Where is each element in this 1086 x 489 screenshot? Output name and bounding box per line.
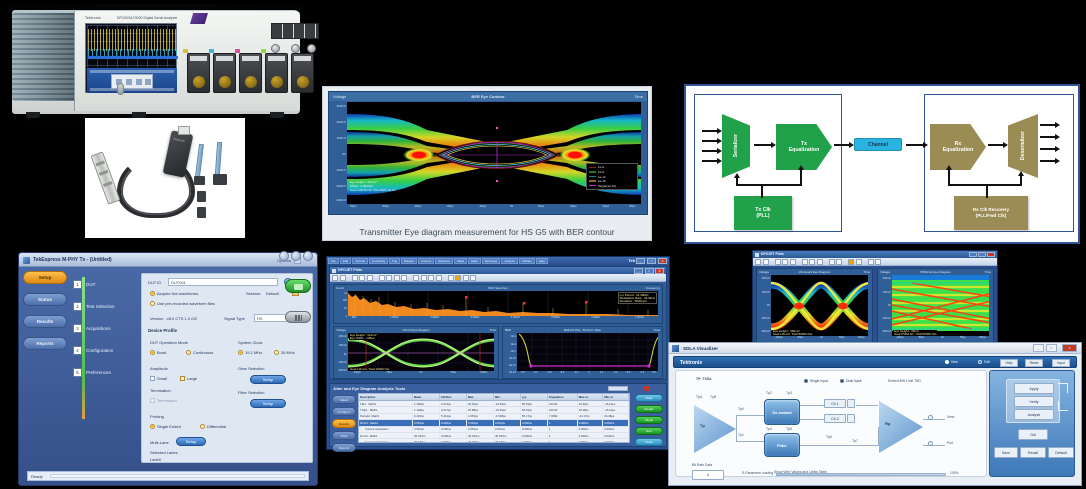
edit-radio[interactable]: Edit <box>978 360 990 364</box>
dual-input-radio[interactable]: Dual Input <box>840 379 861 383</box>
rx-clock-to-rxeq <box>948 170 950 186</box>
probing-differential-radio[interactable]: Differential <box>200 424 226 429</box>
eye-marker-lower <box>496 180 498 182</box>
toolbar-layout-4-icon[interactable] <box>436 275 442 281</box>
sdla-close-button[interactable]: ✕ <box>1062 344 1077 352</box>
oscilloscope-photo: Tektronix DPO/DSA70000 Digital Serial An… <box>8 4 305 126</box>
dual-input-label: Dual Input <box>846 379 861 383</box>
results-reports-button[interactable]: Reports <box>332 443 356 452</box>
hs-eye-y-tick: 300mV <box>762 277 770 280</box>
bathtub-plot: BER Bathtub Plot - Bit Error Rate Time 1… <box>502 326 663 379</box>
results-configure-button[interactable]: Configure <box>332 407 356 416</box>
filter-selection-label: Filter Selection <box>238 390 264 395</box>
sdla-minimize-button[interactable]: _ <box>1033 344 1044 352</box>
spectrum-x-tick: 4.0MHz <box>511 316 520 319</box>
hs-eye-y-axis: 300mV 150mV 0V -150mV -300mV <box>757 275 771 336</box>
input-button[interactable]: Input <box>1052 359 1070 367</box>
eye-canvas-dpo: Eye Height : 412mV Eye Width : 148ps Gea… <box>348 333 494 371</box>
channel-1-dropdown[interactable] <box>847 399 855 408</box>
step-test-selection[interactable]: 2 Test Selection <box>73 295 139 317</box>
sidebar-item-setup[interactable]: Setup <box>23 271 67 284</box>
mode-button-group: Apply Verify Analyze <box>1006 379 1060 423</box>
verify-button[interactable]: Verify <box>1014 396 1054 407</box>
pwm-eye-title: PWM-G1 Eye Diagram <box>920 270 951 274</box>
menu-trig[interactable]: Trig <box>389 258 400 264</box>
sdla-app-icon <box>672 345 679 352</box>
system-clock-26-label: 26 MHz <box>281 350 295 355</box>
results-table[interactable]: Description Mean Std Dev Max Min p-p Pop… <box>358 393 630 443</box>
toolbar-layout-1-icon[interactable] <box>413 275 419 281</box>
sidebar-item-results[interactable]: Results <box>23 315 67 328</box>
toolbar-annotate-icon[interactable] <box>394 275 400 281</box>
pwm-eye-y-axis: 300mV 150mV 0V -150mV -300mV <box>878 275 892 336</box>
channel-2-dropdown[interactable] <box>847 414 855 423</box>
sidebar-item-reports[interactable]: Reports <box>23 337 67 350</box>
system-clock-19-radio[interactable]: 19.2 MHz <box>238 350 262 355</box>
channel-block: Channel <box>854 138 902 151</box>
hs-eye-x-tick: 50ps <box>839 336 845 339</box>
dpojet-eye-plot: Voltage HS-G3 Eye Diagram Time 300mV 150… <box>333 326 499 379</box>
probe-label-b: TpB <box>710 395 716 399</box>
channel-select-2[interactable]: Ch 2 <box>824 414 846 423</box>
eyes-toolbar-zoom-in-icon[interactable] <box>775 259 781 265</box>
sdla-signal-path-canvas: TP: TXDA TpA TpB Tp Tp0 Tp1 De-embed Fil… <box>675 370 987 477</box>
eyes-toolbar-export-icon[interactable] <box>868 259 874 265</box>
toolbar-save-icon[interactable] <box>332 275 338 281</box>
recall-button[interactable]: Recall <box>1020 447 1046 458</box>
toolbar-zoom-in-icon[interactable] <box>352 275 358 281</box>
spectrum-title: SSC Spectrum <box>488 286 508 290</box>
footer-note[interactable]: Show Wire Values and Limits Table <box>774 470 827 474</box>
eye-y-axis-dpo: 300mV 150mV 0V -150mV -300mV <box>334 333 348 371</box>
probe-connector <box>178 126 190 135</box>
bathtub-x-label: Time <box>653 328 660 332</box>
version-label: Version : v8.0 CTS 1.0 r02 <box>150 316 197 321</box>
clear-button[interactable]: Clear <box>635 394 663 402</box>
single-button[interactable]: Single <box>635 416 663 424</box>
plots-minimize-button[interactable]: _ <box>634 268 643 274</box>
spectrum-x-tick: 7.0MHz <box>635 316 644 319</box>
menu-file[interactable]: File <box>328 258 339 264</box>
bathtub-x-tick: -0.5 <box>520 371 524 374</box>
multi-lane-label: Multi-Lane <box>150 440 169 445</box>
step-preferences[interactable]: 5 Preferences <box>73 361 139 383</box>
results-select-button[interactable]: Select <box>332 395 356 404</box>
tx-input-arrow-3 <box>702 150 718 152</box>
col-max: Max <box>467 394 494 400</box>
recalc-button[interactable]: Recalc <box>635 405 663 413</box>
dpojet-plots-window: DPOJET Plots _ □ ✕ Count SSC S <box>329 266 667 380</box>
step-label: Acquisitions <box>86 326 111 331</box>
toolbar-highlight-icon[interactable] <box>455 275 461 281</box>
scope-measurement-panel <box>87 68 177 93</box>
bathtub-y-tick: 1E-10 <box>509 357 516 360</box>
scope-bnc-connectors[interactable] <box>271 44 321 56</box>
window-title: TekExpress M-PHY Tx - (Untitled) <box>33 257 112 263</box>
eye-x-tick: 0s <box>510 204 513 208</box>
spectrum-y-label: Count <box>336 286 344 290</box>
minimize-button[interactable] <box>279 251 289 261</box>
menu-help[interactable]: Help <box>536 258 548 264</box>
channel-select-1[interactable]: Ch 1 <box>824 399 846 408</box>
tx-input-arrow-2 <box>702 140 718 142</box>
tx-input-arrow-4 <box>702 160 718 162</box>
sdla-titlebar: SDLA Visualizer _ □ ✕ <box>669 343 1081 354</box>
scope-minimize-button[interactable]: _ <box>636 258 645 264</box>
use-prerecorded-radio[interactable]: Use pre-recorded waveform files <box>150 301 215 306</box>
view-tap-node[interactable] <box>928 415 933 420</box>
legend-swatch <box>589 167 596 169</box>
rx-output-arrow-4 <box>1040 160 1056 162</box>
dual-eye-diagram-window: DPOJET Plots Voltage HS-Gear3 Eye Diagra… <box>752 250 998 348</box>
spectrum-x-tick: 6.0MHz <box>592 316 601 319</box>
eye-y-label: Voltage <box>336 328 346 332</box>
results-panel-title: Jitter and Eye Diagram Analysis Tools <box>333 386 405 391</box>
tekexpress-nav: Setup Status Results Reports <box>23 271 67 359</box>
wire-out-plot <box>923 445 945 446</box>
eyes-toolbar-marker-icon[interactable] <box>809 259 815 265</box>
probe-head-module: Tektronix <box>163 130 194 178</box>
legend-item: Target(1e-12) <box>589 183 635 188</box>
system-clock-label: System Clock <box>238 340 262 345</box>
scope-menubar: File Edit Vertical Horiz/Acq Trig Displa… <box>327 257 669 265</box>
eyes-maximize-button[interactable] <box>978 252 986 257</box>
acquire-live-radio[interactable]: Acquire live waveforms <box>150 291 198 296</box>
menu-horizacq[interactable]: Horiz/Acq <box>369 258 388 264</box>
toolbar-export-icon[interactable] <box>470 275 476 281</box>
channel-input-5[interactable] <box>291 53 314 93</box>
sdla-action-panel: Apply Verify Analyze Out Save Recall Def… <box>989 370 1075 477</box>
pwm-eye-canvas: Eye Height : 45mV Gear:PWM-G1, Total:500… <box>892 275 989 336</box>
single-input-radio[interactable]: Single Input <box>804 379 828 383</box>
eye-plot-title: BER Eye Contour <box>471 94 504 99</box>
help-button[interactable]: Help <box>1000 359 1018 367</box>
selected-lanes-label: Selected Lanes <box>150 450 178 455</box>
gear-selection-setup-button[interactable]: Setup <box>250 375 286 384</box>
probe-lead-tip-2 <box>213 174 227 185</box>
toolbar-layout-3-icon[interactable] <box>428 275 434 281</box>
probe-flex-lead-1 <box>195 144 204 177</box>
eyes-toolbar-pan-icon[interactable] <box>790 259 796 265</box>
progress-value: 100% <box>950 471 959 475</box>
eyes-toolbar-scale-icon[interactable] <box>817 259 823 265</box>
toolbar-cursor-icon[interactable] <box>379 275 385 281</box>
bit-rate-input[interactable]: 4 <box>692 470 724 480</box>
reset-button[interactable]: Reset <box>1025 359 1043 367</box>
eye-y-axis: 300mV 200mV 100mV 0V -100mV -200mV -300m… <box>329 102 347 204</box>
toolbar-marker-icon[interactable] <box>386 275 392 281</box>
gear-selection-label: Gear Selection <box>238 366 264 371</box>
deembed-tap-label-a: Tp2 <box>766 391 772 395</box>
plot-tap-node[interactable] <box>928 441 933 446</box>
system-clock-26-radio[interactable]: 26 MHz <box>274 350 295 355</box>
hs-eye-y-tick: -150mV <box>761 317 770 320</box>
toolbar-zoom-out-icon[interactable] <box>359 275 365 281</box>
amplitude-small-checkbox[interactable]: Small <box>150 376 167 381</box>
step-number: 3 <box>73 324 82 333</box>
pwm-eye-x-tick: 50ps <box>960 336 966 339</box>
spectrum-canvas: p-p Period : 31.48kHz Modulation Rate : … <box>348 291 658 316</box>
tx-clock-block: Tx Clk (PLL) <box>734 196 792 230</box>
eyes-toolbar-zoom-out-icon[interactable] <box>782 259 788 265</box>
step-dut[interactable]: 1 DUT <box>73 273 139 295</box>
termination-checkbox[interactable]: Terminated <box>150 398 177 403</box>
eyes-toolbar-legend-icon[interactable] <box>856 259 862 265</box>
bathtub-x-tick: 0.3 <box>627 371 631 374</box>
results-panel-menu[interactable] <box>608 386 628 391</box>
hs-eye-y-tick: -300mV <box>761 330 770 333</box>
pwm-eye-x-tick: 100ps <box>979 336 986 339</box>
menu-measure[interactable]: Measure <box>435 258 453 264</box>
spectrum-annotation: Deviation : 5020ppm <box>620 300 655 303</box>
scope-brand-label: Tektronix <box>85 16 101 20</box>
toolbar-pan-icon[interactable] <box>367 275 373 281</box>
toolbar-print-icon[interactable] <box>340 275 346 281</box>
dut-id-label: DUT ID <box>148 280 161 285</box>
output-amp-label: Rp <box>885 421 890 426</box>
toolbar-settings-icon[interactable] <box>448 275 454 281</box>
col-stddev: Std Dev <box>440 394 467 400</box>
eye-x-tick: -20ps <box>446 204 454 208</box>
probing-single-ended-radio[interactable]: Single Ended <box>150 424 181 429</box>
eyes-window-title: DPOJET Plots <box>761 252 784 256</box>
channel-input-3[interactable] <box>239 53 262 93</box>
maximize-button[interactable] <box>291 251 301 261</box>
analyze-button[interactable]: Analyze <box>1014 409 1054 420</box>
results-plots-button[interactable]: Plots <box>332 431 356 440</box>
menu-myscope[interactable]: MyScope <box>482 258 501 264</box>
app-icon <box>23 257 30 264</box>
source-amplifier[interactable]: Tp <box>694 405 736 453</box>
wire-ch1-to-out <box>856 405 878 406</box>
tx-clock-bus <box>736 184 802 186</box>
sdla-maximize-button[interactable]: □ <box>1046 344 1057 352</box>
close-button[interactable] <box>303 251 313 261</box>
table-row[interactable]: Current Acquisition 45.187ps 0.000ns 45.… <box>359 439 629 443</box>
session-value: Default <box>266 291 279 296</box>
eye-y-tick: 0V <box>342 152 346 156</box>
step-number: 5 <box>73 368 82 377</box>
selected-lanes-value: Lane0 <box>150 457 161 462</box>
eyes-minimize-button[interactable] <box>969 252 977 257</box>
wire-out-riser <box>878 427 879 446</box>
bathtub-y-tick: 1E-4 <box>511 343 516 346</box>
step-acquisitions[interactable]: 3 Acquisitions <box>73 317 139 339</box>
sdla-window-title: SDLA Visualizer <box>683 346 718 351</box>
hs-eye-x-tick: 100ps <box>858 336 865 339</box>
eyes-toolbar-highlight-icon[interactable] <box>848 259 854 265</box>
scope-trace-blue <box>88 56 178 59</box>
eye-figure-caption: Transmitter Eye diagram measurement for … <box>323 227 651 237</box>
hs-eye-x-label: Time <box>863 270 870 274</box>
eye-x-tick-dpo: 75ps <box>450 371 456 374</box>
menu-analyze[interactable]: Analyze <box>501 258 518 264</box>
hs-g3-eye-cell: Voltage HS-Gear3 Eye Diagram Time 300mV … <box>756 268 873 344</box>
multi-lane-setup-button[interactable]: Setup <box>176 437 206 446</box>
legend-swatch <box>589 171 596 173</box>
system-clock-19-label: 19.2 MHz <box>245 350 262 355</box>
scope-usb-ports[interactable] <box>271 23 319 39</box>
operation-mode-burst-radio[interactable]: Burst <box>150 350 166 355</box>
menu-mask[interactable]: Mask <box>454 258 467 264</box>
toolbar-layout-2-icon[interactable] <box>421 275 427 281</box>
wire-deembed-to-ch2 <box>800 419 824 420</box>
probe-accessory-1 <box>197 191 206 202</box>
embed-bw-label: Embed BW Limit TBD <box>888 379 921 383</box>
amplitude-large-checkbox[interactable]: Large <box>180 376 197 381</box>
output-view-label: View <box>947 415 954 419</box>
probe-flex-lead-2 <box>215 142 222 175</box>
rx-clock-bus <box>948 184 1022 186</box>
bathtub-x-tick: -0.1 <box>574 371 578 374</box>
output-amplifier[interactable]: Rp <box>879 401 923 453</box>
eyes-toolbar[interactable] <box>753 258 997 266</box>
source-amp-label: Tp <box>700 423 705 428</box>
menu-utilities[interactable]: Utilities <box>519 258 535 264</box>
tektronix-brand: Tektronix <box>680 360 702 366</box>
plots-toolbar[interactable] <box>330 274 666 282</box>
eye-y-tick: -300mV <box>335 198 346 202</box>
scope-maximize-button[interactable]: □ <box>647 258 656 264</box>
run-control-panel: Start Pause <box>282 273 314 323</box>
eyes-toolbar-grid-icon[interactable] <box>836 259 842 265</box>
start-button[interactable] <box>285 279 311 293</box>
toolbar-legend-icon[interactable] <box>463 275 469 281</box>
sdla-visualizer-window: SDLA Visualizer _ □ ✕ Tektronix View Edi… <box>668 342 1082 486</box>
probe-accessory-2 <box>197 207 206 218</box>
eye-y-tick: 200mV <box>336 120 346 124</box>
step-number: 2 <box>73 302 82 311</box>
spectrum-y-tick: 100 <box>343 299 347 302</box>
pwm-eye-y-tick: -150mV <box>882 317 891 320</box>
eye-x-tick-dpo: -75ps <box>386 371 393 374</box>
operation-mode-burst-label: Burst <box>157 350 166 355</box>
menu-edit[interactable]: Edit <box>340 258 351 264</box>
eye-x-axis: -50ps -40ps -30ps -20ps -10ps 0s 10ps 20… <box>347 204 641 213</box>
eye-annotation-dpo: Eye Width : 148ps <box>350 337 377 340</box>
toolbar-grid-icon[interactable] <box>401 275 407 281</box>
legend-label: Target(1e-12) <box>598 184 616 188</box>
col-pp: p-p <box>521 394 548 400</box>
eye-annotations-dpo: Eye Height : 412mV Eye Width : 148ps <box>349 334 378 340</box>
sdla-brand-bar: Tektronix View Edit Help Reset Input <box>673 356 1077 368</box>
default-button[interactable]: Default <box>1048 447 1074 458</box>
run-button[interactable]: Run <box>635 427 663 435</box>
eye-marker-upper <box>496 127 498 129</box>
session-label: Session: <box>246 291 261 296</box>
step-configuration[interactable]: 4 Configuration <box>73 339 139 361</box>
plots-maximize-button[interactable]: □ <box>645 268 654 274</box>
menu-cursors[interactable]: Cursors <box>418 258 435 264</box>
plots-close-button[interactable]: ✕ <box>655 268 664 274</box>
node-label-3: Tp6 <box>826 435 832 439</box>
step-label: Preferences <box>86 370 111 375</box>
eye-x-tick: 10ps <box>538 204 545 208</box>
wire-filter-to-out <box>800 445 878 446</box>
eyes-close-button[interactable] <box>987 252 995 257</box>
menu-math[interactable]: Math <box>468 258 481 264</box>
eye-title: HS-G3 Eye Diagram <box>402 328 429 332</box>
hs-eye-y-tick: 0V <box>767 304 770 307</box>
pause-label: Pause <box>282 305 314 310</box>
pwm-eye-cell: Voltage PWM-G1 Eye Diagram Time 300mV 15… <box>877 268 994 344</box>
close-results-button[interactable]: Close <box>635 438 663 446</box>
results-results-button[interactable]: Results <box>332 419 356 428</box>
eyes-toolbar-print-icon[interactable] <box>763 259 769 265</box>
scope-power-button[interactable] <box>117 83 124 95</box>
view-radio[interactable]: View <box>945 360 958 364</box>
menu-display[interactable]: Display <box>401 258 417 264</box>
menu-vertical[interactable]: Vertical <box>352 258 368 264</box>
eyes-toolbar-cursor-icon[interactable] <box>802 259 808 265</box>
save-button[interactable]: Save <box>994 447 1018 458</box>
out-button[interactable]: Out <box>1018 429 1048 440</box>
rxeq-to-deserializer-arrow <box>988 144 1004 146</box>
filter-selection-setup-button[interactable]: Setup <box>250 399 286 408</box>
eye-x-tick: -30ps <box>414 204 422 208</box>
channel-input-1[interactable] <box>187 53 210 93</box>
pwm-eye-x-tick: 0s <box>941 336 944 339</box>
rx-clock-stem <box>986 184 988 198</box>
bathtub-y-tick: 1E-16 <box>509 371 516 374</box>
legend-label: 1e-9 <box>598 170 604 174</box>
pause-button[interactable] <box>285 311 311 323</box>
col-description: Description <box>359 394 413 400</box>
eyes-toolbar-save-icon[interactable] <box>755 259 761 265</box>
arrow-out-icon <box>1058 383 1068 393</box>
filter-block[interactable]: Filter <box>764 433 800 457</box>
status-label: Ready <box>31 474 43 479</box>
eye-y-tick: -200mV <box>335 184 346 188</box>
window-controls[interactable] <box>279 251 313 261</box>
spectrum-x-tick: 5.0MHz <box>551 316 560 319</box>
deembed-tap-label-b: Tp3 <box>786 391 792 395</box>
eyes-toolbar-layout-icon[interactable] <box>829 259 835 265</box>
source-label: TP: TXDA <box>696 377 712 381</box>
channel-input-4[interactable] <box>265 53 288 93</box>
eyes-toolbar-help-icon[interactable] <box>875 259 881 265</box>
table-header-row: Description Mean Std Dev Max Min p-p Pop… <box>359 394 629 401</box>
apply-button[interactable]: Apply <box>1014 383 1054 394</box>
sidebar-item-status[interactable]: Status <box>23 293 67 306</box>
scope-foot-left <box>26 112 40 118</box>
filter-tap-label-a: Tp4 <box>766 427 772 431</box>
single-input-label: Single Input <box>810 379 828 383</box>
eye-y-tick-dpo: 0V <box>344 353 347 356</box>
dpojet-window: File Edit Vertical Horiz/Acq Trig Displa… <box>326 256 670 450</box>
setup-step-list: 1 DUT 2 Test Selection 3 Acquisitions 4 … <box>73 273 139 383</box>
scope-close-button[interactable]: ✕ <box>658 258 667 264</box>
rx-output-arrow-1 <box>1040 124 1056 126</box>
bit-rate-label: Bit Rate Data <box>692 463 712 467</box>
eye-ber-legend: 1e-6 1e-9 1e-12 1e-15 Target(1e-12) <box>586 163 638 190</box>
eye-y-tick: 300mV <box>336 104 346 108</box>
step-label: Test Selection <box>86 304 115 309</box>
dut-id-input[interactable]: DUT001 <box>168 278 278 286</box>
results-panel-close[interactable] <box>644 386 650 391</box>
channel-led-4 <box>261 49 266 53</box>
operation-mode-continuous-radio[interactable]: Continuous <box>186 350 213 355</box>
channel-input-2[interactable] <box>213 53 236 93</box>
tx-to-channel-arrow <box>834 144 850 146</box>
use-prerecorded-label: Use pre-recorded waveform files <box>157 301 215 306</box>
de-embed-block[interactable]: De-embed <box>764 399 800 425</box>
tekexpress-window: TekExpress M-PHY Tx - (Untitled) Options… <box>18 252 318 486</box>
eye-y-tick: 100mV <box>336 136 346 140</box>
collage-canvas: Tektronix DPO/DSA70000 Digital Serial An… <box>0 0 1086 489</box>
bathtub-title: Bathtub Plot - Bit Error Rate <box>564 328 601 332</box>
bathtub-x-tick: 0.2 <box>614 371 618 374</box>
